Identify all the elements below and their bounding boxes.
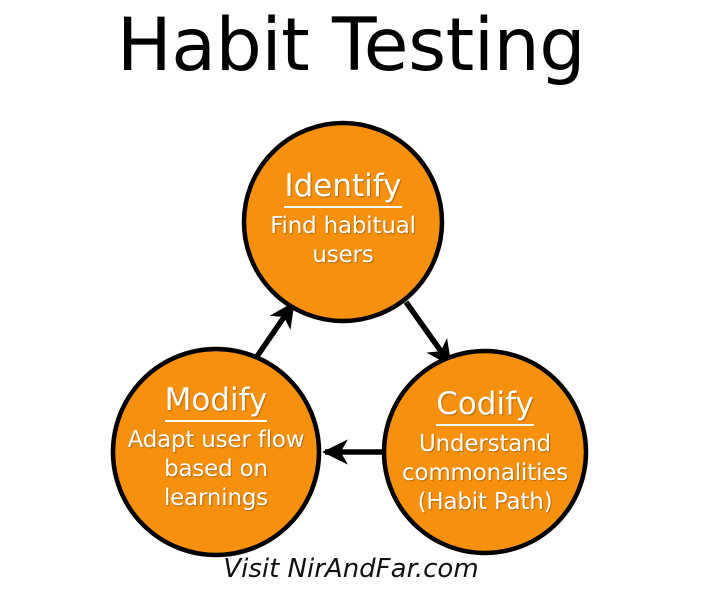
node-circle-codify[interactable] bbox=[384, 351, 586, 553]
node-circle-modify[interactable] bbox=[113, 349, 319, 555]
footer-attribution: Visit NirAndFar.com bbox=[0, 554, 702, 584]
arrow-identify-to-codify bbox=[406, 302, 450, 364]
diagram-canvas: Habit Testing Identify Find habitual u bbox=[0, 0, 702, 608]
node-circle-identify[interactable] bbox=[244, 123, 442, 321]
habit-testing-cycle-diagram bbox=[0, 0, 702, 608]
cycle-graphics bbox=[0, 0, 702, 608]
